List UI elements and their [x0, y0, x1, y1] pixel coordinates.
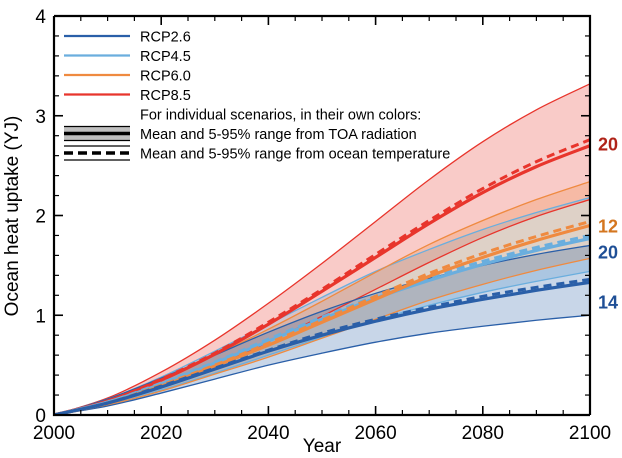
ensemble-count-label: 20 [598, 242, 618, 262]
ensemble-count-label: 12 [598, 216, 618, 236]
x-tick-label: 2080 [462, 423, 504, 444]
y-axis-label: Ocean heat uptake (YJ) [2, 116, 23, 317]
legend-label-RCP8.5: RCP8.5 [140, 88, 191, 104]
x-tick-label: 2060 [354, 423, 396, 444]
legend-label-RCP4.5: RCP4.5 [140, 49, 191, 65]
x-axis-label: Year [303, 436, 342, 457]
ensemble-count-label: 14 [598, 292, 618, 312]
y-tick-label: 2 [35, 207, 46, 228]
legend-label-RCP6.0: RCP6.0 [140, 69, 191, 85]
legend-label-RCP2.6: RCP2.6 [140, 30, 191, 46]
x-tick-label: 2100 [569, 423, 611, 444]
y-tick-label: 3 [35, 107, 46, 128]
y-tick-label: 4 [35, 7, 46, 28]
legend-label-ocean: Mean and 5-95% range from ocean temperat… [140, 147, 450, 163]
legend-note: For individual scenarios, in their own c… [140, 108, 421, 124]
y-tick-label: 0 [35, 406, 46, 427]
ensemble-count-label: 20 [598, 135, 618, 155]
x-tick-label: 2020 [140, 423, 182, 444]
y-tick-label: 1 [35, 306, 46, 327]
legend-label-toa: Mean and 5-95% range from TOA radiation [140, 127, 417, 143]
ocean-heat-uptake-chart: 20002020204020602080210001234 20122014 R… [0, 0, 622, 458]
x-tick-label: 2040 [247, 423, 289, 444]
